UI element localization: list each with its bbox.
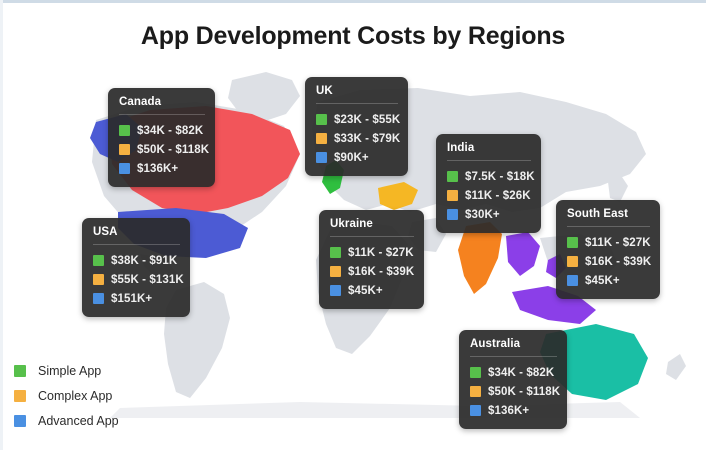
cost-row: $50K - $118K: [470, 382, 557, 401]
tier-swatch-icon: [93, 274, 104, 285]
legend-label-advanced: Advanced App: [38, 414, 119, 428]
tier-swatch-icon: [330, 285, 341, 296]
legend-item-complex: Complex App: [14, 383, 119, 408]
page-title: App Development Costs by Regions: [0, 22, 706, 51]
cost-row: $136K+: [119, 159, 205, 178]
legend-label-complex: Complex App: [38, 389, 112, 403]
cost-row: $136K+: [470, 401, 557, 420]
region-card-title: UK: [316, 85, 398, 103]
tier-swatch-icon: [93, 293, 104, 304]
cost-range-value: $136K+: [488, 405, 529, 417]
cost-range-value: $11K - $26K: [465, 190, 531, 202]
region-card-title: India: [447, 142, 531, 160]
region-card-divider: [119, 114, 205, 115]
cost-range-value: $45K+: [585, 275, 620, 287]
cost-range-value: $34K - $82K: [137, 125, 203, 137]
tier-swatch-icon: [470, 367, 481, 378]
legend-item-advanced: Advanced App: [14, 408, 119, 433]
tier-swatch-icon: [470, 405, 481, 416]
tier-swatch-icon: [93, 255, 104, 266]
region-card-title: USA: [93, 226, 180, 244]
legend: Simple App Complex App Advanced App: [14, 358, 119, 433]
cost-range-value: $11K - $27K: [585, 237, 651, 249]
region-card-south-east: South East$11K - $27K$16K - $39K$45K+: [556, 200, 660, 299]
cost-range-value: $7.5K - $18K: [465, 171, 535, 183]
advanced-app-swatch-icon: [14, 415, 26, 427]
cost-row: $45K+: [567, 271, 650, 290]
cost-range-value: $23K - $55K: [334, 114, 400, 126]
tier-swatch-icon: [567, 237, 578, 248]
cost-row: $11K - $27K: [567, 233, 650, 252]
map-region-south-east: [506, 232, 540, 276]
cost-row: $11K - $27K: [330, 243, 414, 262]
cost-range-value: $34K - $82K: [488, 367, 554, 379]
region-card-divider: [470, 356, 557, 357]
cost-row: $16K - $39K: [567, 252, 650, 271]
region-card-title: South East: [567, 208, 650, 226]
region-card-india: India$7.5K - $18K$11K - $26K$30K+: [436, 134, 541, 233]
cost-row: $30K+: [447, 205, 531, 224]
region-card-divider: [93, 244, 180, 245]
region-card-australia: Australia$34K - $82K$50K - $118K$136K+: [459, 330, 567, 429]
cost-range-value: $50K - $118K: [488, 386, 560, 398]
cost-range-value: $16K - $39K: [585, 256, 651, 268]
region-card-uk: UK$23K - $55K$33K - $79K$90K+: [305, 77, 408, 176]
simple-app-swatch-icon: [14, 365, 26, 377]
tier-swatch-icon: [567, 275, 578, 286]
cost-row: $33K - $79K: [316, 129, 398, 148]
region-card-divider: [316, 103, 398, 104]
cost-range-value: $45K+: [348, 285, 383, 297]
region-card-ukraine: Ukraine$11K - $27K$16K - $39K$45K+: [319, 210, 424, 309]
cost-range-value: $50K - $118K: [137, 144, 209, 156]
cost-row: $45K+: [330, 281, 414, 300]
region-card-title: Canada: [119, 96, 205, 114]
region-card-title: Ukraine: [330, 218, 414, 236]
region-card-title: Australia: [470, 338, 557, 356]
tier-swatch-icon: [330, 247, 341, 258]
region-card-divider: [567, 226, 650, 227]
cost-row: $34K - $82K: [119, 121, 205, 140]
legend-item-simple: Simple App: [14, 358, 119, 383]
tier-swatch-icon: [447, 190, 458, 201]
legend-label-simple: Simple App: [38, 364, 101, 378]
tier-swatch-icon: [119, 125, 130, 136]
cost-row: $16K - $39K: [330, 262, 414, 281]
top-edge-rule: [0, 0, 706, 3]
cost-row: $38K - $91K: [93, 251, 180, 270]
tier-swatch-icon: [316, 152, 327, 163]
tier-swatch-icon: [567, 256, 578, 267]
cost-row: $7.5K - $18K: [447, 167, 531, 186]
region-card-divider: [447, 160, 531, 161]
complex-app-swatch-icon: [14, 390, 26, 402]
tier-swatch-icon: [330, 266, 341, 277]
tier-swatch-icon: [470, 386, 481, 397]
cost-range-value: $151K+: [111, 293, 152, 305]
cost-range-value: $38K - $91K: [111, 255, 177, 267]
cost-range-value: $55K - $131K: [111, 274, 184, 286]
cost-range-value: $136K+: [137, 163, 178, 175]
cost-row: $55K - $131K: [93, 270, 180, 289]
cost-range-value: $11K - $27K: [348, 247, 414, 259]
cost-range-value: $90K+: [334, 152, 369, 164]
cost-row: $34K - $82K: [470, 363, 557, 382]
cost-row: $50K - $118K: [119, 140, 205, 159]
cost-range-value: $16K - $39K: [348, 266, 414, 278]
tier-swatch-icon: [119, 163, 130, 174]
tier-swatch-icon: [316, 133, 327, 144]
cost-row: $90K+: [316, 148, 398, 167]
tier-swatch-icon: [447, 209, 458, 220]
region-card-divider: [330, 236, 414, 237]
cost-row: $11K - $26K: [447, 186, 531, 205]
cost-row: $151K+: [93, 289, 180, 308]
cost-range-value: $33K - $79K: [334, 133, 400, 145]
tier-swatch-icon: [119, 144, 130, 155]
cost-row: $23K - $55K: [316, 110, 398, 129]
region-card-canada: Canada$34K - $82K$50K - $118K$136K+: [108, 88, 215, 187]
tier-swatch-icon: [316, 114, 327, 125]
tier-swatch-icon: [447, 171, 458, 182]
cost-range-value: $30K+: [465, 209, 500, 221]
region-card-usa: USA$38K - $91K$55K - $131K$151K+: [82, 218, 190, 317]
infographic-root: App Development Costs by Regions: [0, 0, 706, 450]
